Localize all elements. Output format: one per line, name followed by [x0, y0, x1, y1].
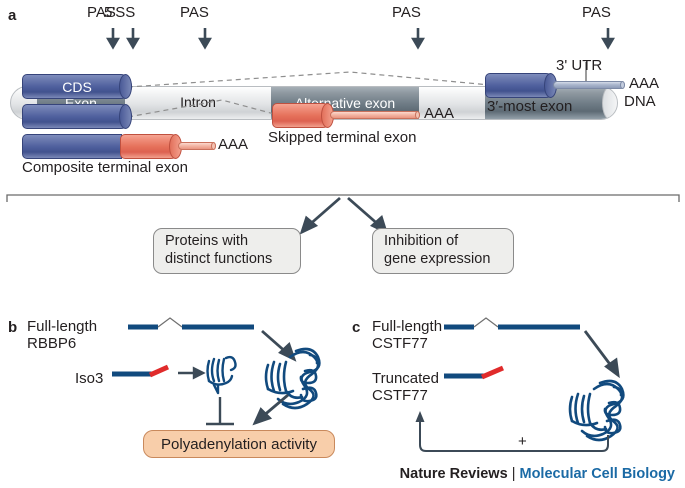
isoform-cds-cylinder-3 [22, 134, 122, 159]
outcome-box-inhibition[interactable]: Inhibition of gene expression [372, 228, 514, 274]
figure-canvas: a PAS 5'SS PAS PAS PAS Exon Intron Alter… [0, 0, 685, 488]
outcome-box-proteins[interactable]: Proteins with distinct functions [153, 228, 301, 274]
panel-b-activation-arrow [255, 395, 288, 423]
isoform-cds-cylinder-1: CDS [22, 74, 132, 99]
panel-c-feedback-plus: + [518, 434, 527, 451]
three-most-exon-label: 3′-most exon [487, 99, 572, 116]
three-most-exon-cylinder [485, 73, 557, 98]
panel-b-full-length-arrow [262, 331, 294, 359]
pas-label-3: PAS [392, 4, 421, 21]
cds-cap-1 [119, 74, 132, 99]
panel-c-full-length-arrow [585, 331, 618, 375]
outcome-box-proteins-label: Proteins with distinct functions [165, 233, 272, 268]
panel-b-result-box[interactable]: Polyadenylation activity [143, 430, 335, 458]
pas-arrows [0, 24, 685, 50]
footer-separator: | [512, 466, 516, 482]
panel-b-full-length-transcript [128, 318, 254, 327]
cds-cap-2 [119, 104, 132, 129]
three-most-polyA-label: AAA [629, 76, 659, 93]
panel-b-result-label: Polyadenylation activity [161, 436, 317, 453]
panel-b-inhibition-bar [206, 397, 234, 424]
composite-terminal-exon-label: Composite terminal exon [22, 160, 188, 177]
panel-b-iso3-transcript [112, 367, 168, 375]
panel-c-feedback-arrowhead [416, 411, 425, 422]
panel-c-diagram [340, 305, 685, 475]
skipped-polyA-tail [330, 111, 420, 119]
panel-c-truncated-transcript [444, 368, 503, 377]
skipped-terminal-exon-label: Skipped terminal exon [268, 130, 416, 147]
three-utr-label: 3' UTR [556, 58, 602, 75]
panel-a-letter: a [8, 8, 16, 23]
composite-terminal-exon-salmon [120, 134, 182, 159]
cds-label: CDS [23, 80, 131, 94]
panel-c-full-length-transcript [444, 318, 580, 327]
footer-section: Molecular Cell Biology [520, 466, 676, 482]
skipped-polyA-label: AAA [424, 106, 454, 123]
panel-c-cstf77-protein-blob [570, 381, 623, 440]
panel-b-iso3-protein-squiggle [208, 357, 236, 393]
outcome-box-inhibition-label: Inhibition of gene expression [384, 233, 490, 268]
figure-footer: Nature Reviews | Molecular Cell Biology [400, 466, 675, 482]
pas-label-2: PAS [180, 4, 209, 21]
ss5-label: 5'SS [104, 4, 135, 21]
pas-label-4: PAS [582, 4, 611, 21]
composite-polyA-tail [178, 142, 216, 150]
isoform-cds-cylinder-2 [22, 104, 132, 129]
footer-journal: Nature Reviews [400, 466, 508, 482]
composite-polyA-label: AAA [218, 137, 248, 154]
panel-b-iso3-arrow [178, 369, 203, 378]
outcome-bracket-and-arrows [0, 188, 685, 238]
composite-tail-cap [211, 142, 216, 150]
skipped-terminal-exon-cylinder [272, 103, 334, 128]
skipped-tail-cap [415, 111, 420, 119]
